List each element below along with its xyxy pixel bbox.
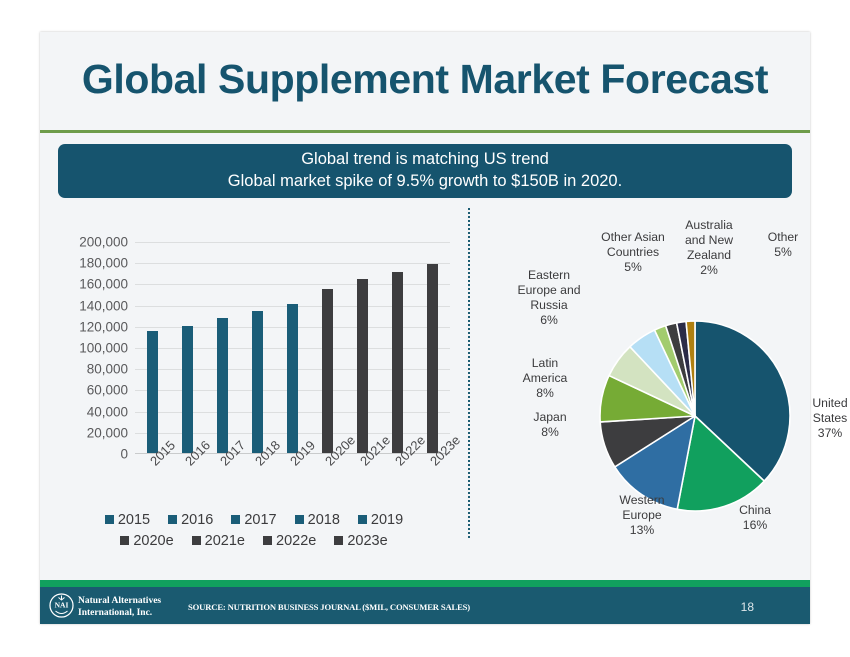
- banner-line-2: Global market spike of 9.5% growth to $1…: [228, 171, 622, 193]
- bar: [252, 311, 263, 453]
- legend-swatch-icon: [295, 515, 304, 524]
- bar: [147, 331, 158, 453]
- bar: [392, 272, 403, 453]
- y-axis-tick-label: 40,000: [87, 404, 128, 419]
- gridline: [135, 242, 450, 243]
- source-citation: SOURCE: NUTRITION BUSINESS JOURNAL ($MIL…: [188, 602, 470, 612]
- page-number: 18: [741, 600, 754, 614]
- bar-chart-legend: 20152016201720182019 2020e2021e2022e2023…: [40, 508, 468, 553]
- pie-slice-label: Other Asian Countries 5%: [590, 230, 676, 275]
- y-axis-tick-label: 120,000: [79, 319, 128, 334]
- pie-chart: United States 37%China 16%Western Europe…: [470, 208, 810, 548]
- footer-accent-bar: [40, 580, 810, 587]
- pie-slice-label: Other 5%: [758, 230, 808, 260]
- bar-chart-legend-row-1: 20152016201720182019: [40, 511, 468, 529]
- legend-label: 2021e: [205, 533, 245, 549]
- bar: [357, 279, 368, 453]
- bar: [287, 304, 298, 453]
- page-title: Global Supplement Market Forecast: [40, 56, 810, 103]
- bar-chart-plot-area: [135, 242, 450, 454]
- pie-slice-label: Western Europe 13%: [602, 493, 682, 538]
- bar: [182, 326, 193, 453]
- legend-item[interactable]: 2017: [231, 512, 276, 528]
- footer: NAI Natural Alternatives International, …: [40, 587, 810, 624]
- y-axis-tick-label: 200,000: [79, 235, 128, 250]
- legend-item[interactable]: 2022e: [263, 533, 316, 549]
- slide: Global Supplement Market Forecast Global…: [40, 32, 810, 624]
- legend-label: 2023e: [347, 533, 387, 549]
- bar: [322, 289, 333, 453]
- legend-label: 2018: [308, 512, 340, 528]
- legend-item[interactable]: 2021e: [192, 533, 245, 549]
- pie-slice-label: Australia and New Zealand 2%: [678, 218, 740, 278]
- legend-swatch-icon: [192, 536, 201, 545]
- nai-logo-icon: NAI: [49, 593, 74, 618]
- pie-slice-label: Japan 8%: [520, 410, 580, 440]
- title-underline-rule: [40, 130, 810, 133]
- bar: [427, 264, 438, 453]
- legend-swatch-icon: [263, 536, 272, 545]
- y-axis-tick-label: 80,000: [87, 362, 128, 377]
- legend-swatch-icon: [358, 515, 367, 524]
- legend-label: 2017: [244, 512, 276, 528]
- y-axis-tick-label: 60,000: [87, 383, 128, 398]
- legend-swatch-icon: [120, 536, 129, 545]
- legend-swatch-icon: [231, 515, 240, 524]
- legend-item[interactable]: 2016: [168, 512, 213, 528]
- y-axis-tick-label: 160,000: [79, 277, 128, 292]
- callout-banner: Global trend is matching US trend Global…: [58, 144, 792, 198]
- legend-label: 2016: [181, 512, 213, 528]
- y-axis-tick-label: 180,000: [79, 256, 128, 271]
- gridline: [135, 263, 450, 264]
- legend-item[interactable]: 2020e: [120, 533, 173, 549]
- legend-item[interactable]: 2015: [105, 512, 150, 528]
- legend-label: 2019: [371, 512, 403, 528]
- legend-item[interactable]: 2023e: [334, 533, 387, 549]
- bar-chart-legend-row-2: 2020e2021e2022e2023e: [40, 532, 468, 550]
- legend-item[interactable]: 2018: [295, 512, 340, 528]
- legend-swatch-icon: [334, 536, 343, 545]
- pie-slice-label: China 16%: [720, 503, 790, 533]
- legend-label: 2020e: [133, 533, 173, 549]
- legend-swatch-icon: [168, 515, 177, 524]
- pie-slice-label: United States 37%: [800, 396, 850, 441]
- legend-label: 2015: [118, 512, 150, 528]
- svg-text:NAI: NAI: [55, 601, 69, 610]
- bar: [217, 318, 228, 453]
- bar-chart: 020,00040,00060,00080,000100,000120,0001…: [40, 208, 468, 548]
- legend-label: 2022e: [276, 533, 316, 549]
- banner-line-1: Global trend is matching US trend: [301, 149, 549, 171]
- pie-slice-label: Latin America 8%: [512, 356, 578, 401]
- company-name: Natural Alternatives International, Inc.: [78, 595, 161, 619]
- y-axis-tick-label: 100,000: [79, 341, 128, 356]
- legend-swatch-icon: [105, 515, 114, 524]
- legend-item[interactable]: 2019: [358, 512, 403, 528]
- y-axis-tick-label: 20,000: [87, 425, 128, 440]
- pie-slice-label: Eastern Europe and Russia 6%: [506, 268, 592, 328]
- y-axis-tick-label: 140,000: [79, 298, 128, 313]
- y-axis-tick-label: 0: [120, 447, 128, 462]
- content-area: 020,00040,00060,00080,000100,000120,0001…: [40, 208, 810, 548]
